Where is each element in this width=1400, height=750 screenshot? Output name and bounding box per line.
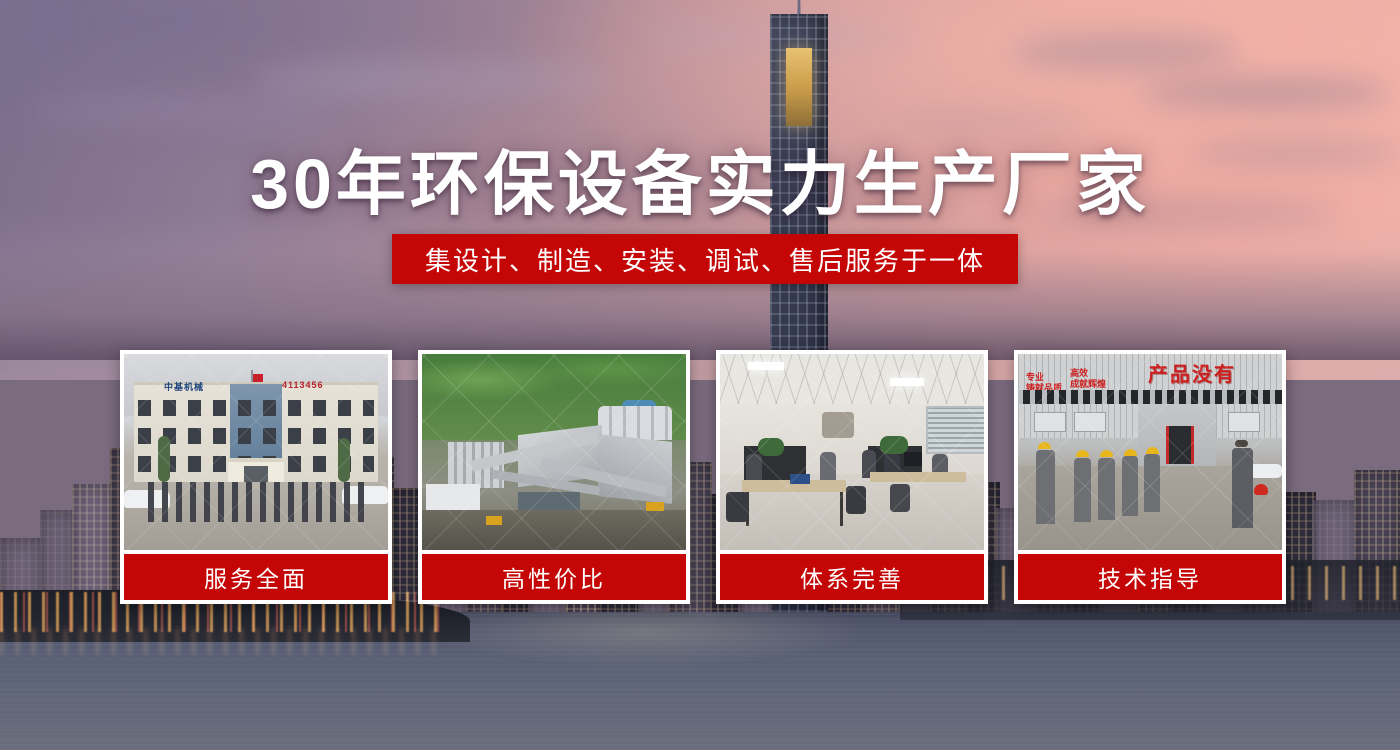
riverbank-reflection	[0, 628, 440, 654]
cloud-shape	[1010, 34, 1240, 70]
feature-card[interactable]: 高性价比	[418, 350, 690, 604]
feature-card-label-text: 体系完善	[800, 560, 904, 594]
cloud-shape	[1140, 78, 1390, 108]
cloud-shape	[30, 96, 330, 126]
promo-banner: 30年环保设备实力生产厂家 集设计、制造、安装、调试、售后服务于一体 中基机械	[0, 0, 1400, 750]
subtitle-text: 集设计、制造、安装、调试、售后服务于一体	[425, 241, 985, 278]
feature-card-label: 体系完善	[720, 554, 984, 600]
company-headquarters-photo: 中基机械 4113456	[124, 354, 388, 550]
feature-card-label: 高性价比	[422, 554, 686, 600]
subtitle-banner: 集设计、制造、安装、调试、售后服务于一体	[392, 234, 1018, 284]
feature-card-label-text: 服务全面	[204, 560, 308, 594]
tower-crown-light	[786, 48, 812, 126]
building-sign-text: 中基机械	[164, 380, 204, 393]
feature-card-label-text: 技术指导	[1098, 560, 1202, 594]
feature-card-list: 中基机械 4113456 服务全面	[120, 350, 1282, 604]
feature-card-label-text: 高性价比	[502, 560, 606, 594]
building-phone-text: 4113456	[282, 380, 324, 390]
feature-card-label: 服务全面	[124, 554, 388, 600]
feature-card[interactable]: 中基机械 4113456 服务全面	[120, 350, 392, 604]
factory-wall-headline-text: 产品没有	[1148, 358, 1236, 387]
page-title: 30年环保设备实力生产厂家	[0, 128, 1400, 229]
cloud-shape	[250, 58, 610, 102]
factory-wall-slogan-right: 高效成就辉煌	[1070, 368, 1106, 390]
office-interior-photo	[720, 354, 984, 550]
aerial-plant-photo	[422, 354, 686, 550]
feature-card[interactable]: 体系完善	[716, 350, 988, 604]
factory-workers-photo: 产品没有 专业铸就品质 高效成就辉煌	[1018, 354, 1282, 550]
feature-card[interactable]: 产品没有 专业铸就品质 高效成就辉煌	[1014, 350, 1286, 604]
feature-card-label: 技术指导	[1018, 554, 1282, 600]
tower-spire-tip	[798, 0, 800, 14]
